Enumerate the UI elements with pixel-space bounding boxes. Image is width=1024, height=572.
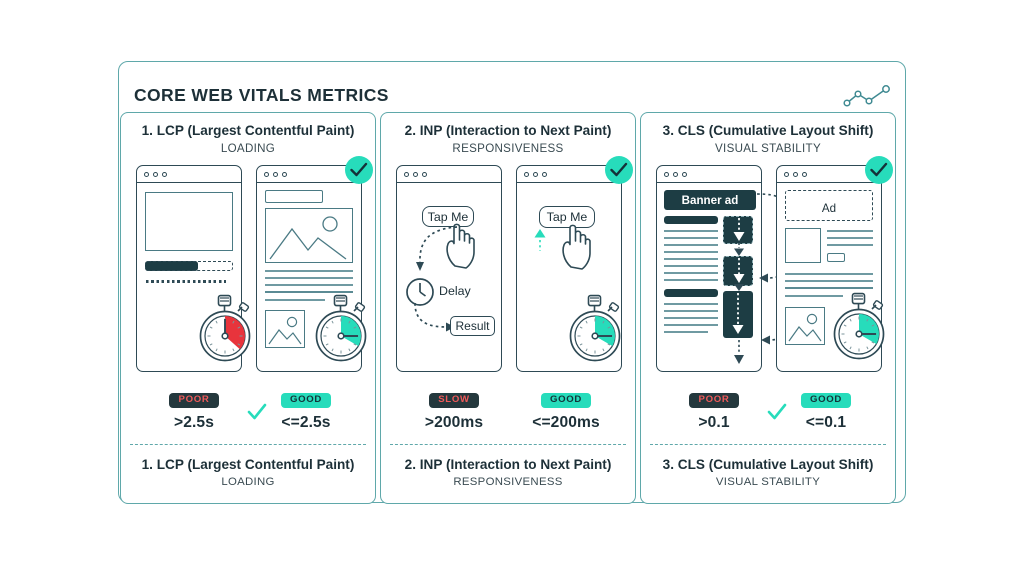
status-badge: GOOD [281,393,331,408]
stopwatch-good [310,294,372,362]
score-poor: POOR >2.5s [139,389,249,432]
result-box: Result [450,316,495,336]
lcp-loading-mockup [136,165,242,372]
heading-block [664,216,718,224]
line-chart-icon [843,84,891,110]
card-header: CORE WEB VITALS METRICS [119,62,905,112]
window-dot-icon [162,172,167,177]
panel-inp-title: 2. INP (Interaction to Next Paint) [381,123,635,138]
score-poor: POOR >0.1 [659,389,769,432]
lcp-loaded-mockup [256,165,362,372]
threshold-value: <=200ms [511,414,621,432]
page-body: Tap Me [397,183,501,372]
shifting-block [723,291,753,338]
shifting-block [723,216,753,244]
hero-image [265,208,353,263]
panel-cls-title: 3. CLS (Cumulative Layout Shift) [641,123,895,138]
panel-cls-mockups: Banner ad [641,165,895,385]
score-good: GOOD <=200ms [511,389,621,432]
footer-subtitle: RESPONSIVENESS [390,476,626,488]
footer-title: 1. LCP (Largest Contentful Paint) [130,457,366,472]
text-line [664,237,718,239]
window-dot-icon [682,172,687,177]
text-line [265,291,353,293]
text-line [664,265,718,267]
text-line [265,270,353,272]
text-line [664,279,718,281]
text-line [664,324,718,326]
banner-ad-label: Banner ad [664,194,756,207]
status-badge: GOOD [541,393,591,408]
window-dot-icon [144,172,149,177]
reserved-ad-slot: Ad [785,190,873,221]
check-icon [767,403,787,421]
infographic-canvas: CORE WEB VITALS METRICS 1. LCP (Largest … [0,0,1024,572]
shifting-block [723,256,753,286]
panel-inp-subtitle: RESPONSIVENESS [381,142,635,155]
panel-cls-scores: POOR >0.1 GOOD <=0.1 [641,389,895,451]
pending-progress-bar [145,261,233,271]
text-line [664,303,718,305]
window-dot-icon [282,172,287,177]
footer-title: 2. INP (Interaction to Next Paint) [390,457,626,472]
status-badge-check [345,156,373,184]
score-slow: SLOW >200ms [399,389,509,432]
footer-subtitle: LOADING [130,476,366,488]
panel-inp: 2. INP (Interaction to Next Paint) RESPO… [380,112,636,504]
text-line [265,277,353,279]
page-title: CORE WEB VITALS METRICS [134,85,389,106]
window-dot-icon [802,172,807,177]
text-line [265,284,353,286]
window-dot-icon [273,172,278,177]
window-dot-icon [784,172,789,177]
ad-slot-label: Ad [786,202,872,215]
threshold-value: <=0.1 [771,414,881,432]
score-good: GOOD <=2.5s [251,389,361,432]
text-line [664,251,718,253]
panel-cls-subtitle: VISUAL STABILITY [641,142,895,155]
text-line [827,244,873,246]
status-badge-check [865,156,893,184]
window-dot-icon [533,172,538,177]
window-dot-icon [153,172,158,177]
text-line [664,310,718,312]
empty-image-placeholder [145,192,233,251]
window-dot-icon [264,172,269,177]
panel-inp-scores: SLOW >200ms GOOD <=200ms [381,389,635,451]
text-line [664,230,718,232]
window-dot-icon [673,172,678,177]
panel-lcp-title: 1. LCP (Largest Contentful Paint) [121,123,375,138]
panel-inp-mockups: Tap Me [381,165,635,385]
window-dot-icon [413,172,418,177]
panel-lcp-subtitle: LOADING [121,142,375,155]
panel-inp-footer: 2. INP (Interaction to Next Paint) RESPO… [390,444,626,493]
text-line [664,331,708,333]
footer-subtitle: VISUAL STABILITY [650,476,886,488]
check-icon [247,403,267,421]
banner-ad-block: Banner ad [664,190,756,210]
text-line [785,273,873,275]
panel-lcp-footer: 1. LCP (Largest Contentful Paint) LOADIN… [130,444,366,493]
status-badge: POOR [169,393,218,408]
status-badge-check [605,156,633,184]
pending-text-row [146,280,226,283]
button-placeholder [827,253,845,262]
threshold-value: <=2.5s [251,414,361,432]
content-image-block [785,228,821,263]
text-line [664,317,718,319]
heading-block [664,289,718,297]
page-body: Banner ad [657,183,761,372]
status-badge: GOOD [801,393,851,408]
status-badge: SLOW [429,393,479,408]
window-dot-icon [664,172,669,177]
stopwatch-poor [194,294,256,362]
search-field-placeholder [265,190,323,203]
threshold-value: >0.1 [659,414,769,432]
status-badge: POOR [689,393,738,408]
footer-title: 3. CLS (Cumulative Layout Shift) [650,457,886,472]
window-dot-icon [524,172,529,177]
text-line [827,237,873,239]
text-line [785,287,873,289]
window-dot-icon [793,172,798,177]
panel-lcp: 1. LCP (Largest Contentful Paint) LOADIN… [120,112,376,504]
panel-lcp-scores: POOR >2.5s GOOD <=2.5s [121,389,375,451]
thumbnail-image [265,310,305,348]
text-line [664,258,718,260]
stopwatch-good [828,292,890,360]
threshold-value: >200ms [399,414,509,432]
inp-fast-mockup: Tap Me [516,165,622,372]
inp-slow-mockup: Tap Me [396,165,502,372]
text-line [664,272,718,274]
window-dot-icon [542,172,547,177]
cls-stable-mockup: Ad [776,165,882,372]
text-line [827,230,873,232]
panel-cls: 3. CLS (Cumulative Layout Shift) VISUAL … [640,112,896,504]
metric-panels: 1. LCP (Largest Contentful Paint) LOADIN… [119,112,907,504]
browser-chrome-bar [397,166,501,183]
browser-chrome-bar [137,166,241,183]
core-web-vitals-card: CORE WEB VITALS METRICS 1. LCP (Largest … [118,61,906,503]
panel-cls-footer: 3. CLS (Cumulative Layout Shift) VISUAL … [650,444,886,493]
text-line [785,280,873,282]
threshold-value: >2.5s [139,414,249,432]
delay-label: Delay [439,284,471,298]
panel-lcp-mockups [121,165,375,385]
browser-chrome-bar [657,166,761,183]
cls-shift-mockup: Banner ad [656,165,762,372]
window-dot-icon [404,172,409,177]
score-good: GOOD <=0.1 [771,389,881,432]
text-line [664,244,718,246]
window-dot-icon [422,172,427,177]
stopwatch-good [564,294,626,362]
thumbnail-image [785,307,825,345]
